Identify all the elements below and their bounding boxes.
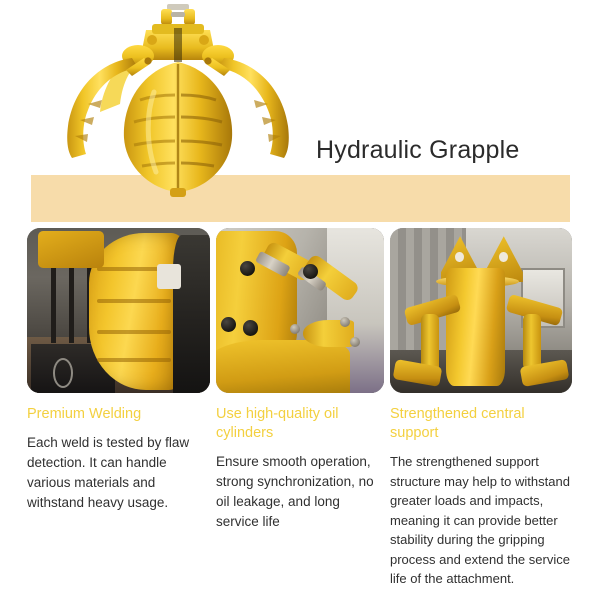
- page-title: Hydraulic Grapple: [316, 136, 520, 165]
- central-support-photo: [390, 228, 572, 393]
- feature-body: Ensure smooth operation, strong synchron…: [216, 452, 384, 532]
- feature-heading: Strengthened central support: [390, 405, 572, 443]
- feature-body: The strengthened support structure may h…: [390, 452, 572, 589]
- hydraulic-grapple-image: [28, 0, 328, 200]
- feature-columns: Premium Welding Each weld is tested by f…: [0, 228, 600, 600]
- feature-heading: Premium Welding: [27, 405, 210, 424]
- hero-section: Hydraulic Grapple: [0, 0, 600, 228]
- premium-welding-photo: [27, 228, 210, 393]
- feature-heading: Use high-quality oil cylinders: [216, 405, 384, 443]
- feature-body: Each weld is tested by flaw detection. I…: [27, 433, 210, 513]
- feature-card-premium-welding: Premium Welding Each weld is tested by f…: [27, 228, 210, 513]
- feature-card-oil-cylinders: Use high-quality oil cylinders Ensure sm…: [216, 228, 384, 532]
- oil-cylinder-photo: [216, 228, 384, 393]
- feature-card-central-support: Strengthened central support The strengt…: [390, 228, 572, 589]
